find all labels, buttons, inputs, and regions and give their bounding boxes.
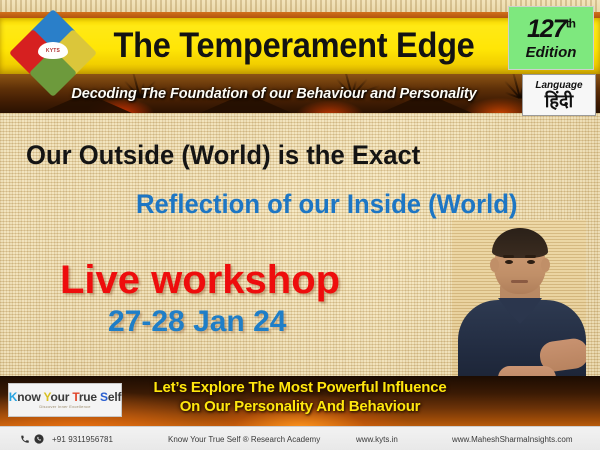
poster-footer: +91 9311956781 Know Your True Self ® Res… (0, 426, 600, 450)
footer-phone-number[interactable]: +91 9311956781 (52, 435, 113, 444)
language-badge-label: Language (535, 81, 582, 91)
edition-number: 127th (527, 17, 575, 42)
footer-academy-name: Know Your True Self ® Research Academy (168, 435, 320, 444)
brand-strapline: Discover Inner Excellence (39, 405, 90, 409)
portrait-ear-right (541, 258, 550, 272)
brand-word-true: rue (79, 390, 97, 404)
headline-line-1: Our Outside (World) is the Exact (26, 140, 420, 171)
edition-label: Edition (526, 45, 577, 60)
event-type-text: Live workshop (60, 258, 340, 303)
edition-ordinal: th (566, 16, 575, 30)
footer-website-primary[interactable]: www.kyts.in (356, 435, 398, 444)
promotional-poster: KYTS The Temperament Edge Decoding The F… (0, 0, 600, 450)
brand-letter-k: K (9, 390, 17, 404)
portrait-eyebrow-right (525, 255, 536, 258)
language-badge: Language हिंदी (522, 74, 596, 116)
event-dates-text: 27-28 Jan 24 (108, 305, 286, 339)
whatsapp-icon (34, 434, 44, 444)
language-badge-value: हिंदी (545, 92, 573, 110)
brand-word-self: elf (108, 390, 121, 404)
footer-contact: +91 9311956781 (20, 434, 113, 444)
tagline-line-2: On Our Personality And Behaviour (120, 397, 480, 416)
brand-wordmark: Know Your True Self (9, 391, 122, 403)
brand-letter-s: S (100, 390, 108, 404)
portrait-eye-left (505, 260, 513, 264)
brand-word-your: our (50, 390, 69, 404)
portrait-eye-right (527, 260, 535, 264)
poster-subtitle: Decoding The Foundation of our Behaviour… (0, 74, 548, 113)
edition-badge: 127th Edition (508, 6, 594, 70)
know-your-true-self-logo: Know Your True Self Discover Inner Excel… (8, 383, 122, 417)
brand-word-know: now (17, 390, 40, 404)
tagline-line-1: Let’s Explore The Most Powerful Influenc… (120, 378, 480, 397)
portrait-eyebrow-left (503, 255, 514, 258)
headline-line-2: Reflection of our Inside (World) (136, 189, 517, 220)
portrait-mouth (511, 280, 528, 283)
logo-center-cloud: KYTS (38, 42, 68, 59)
portrait-ear-left (490, 258, 499, 272)
page-title: The Temperament Edge (117, 20, 470, 72)
phone-icon (20, 434, 30, 444)
poster-header: KYTS The Temperament Edge Decoding The F… (0, 0, 600, 113)
poster-tagline: Let’s Explore The Most Powerful Influenc… (120, 378, 480, 416)
speaker-portrait (452, 220, 586, 390)
footer-website-secondary[interactable]: www.MaheshSharmaInsights.com (452, 435, 573, 444)
